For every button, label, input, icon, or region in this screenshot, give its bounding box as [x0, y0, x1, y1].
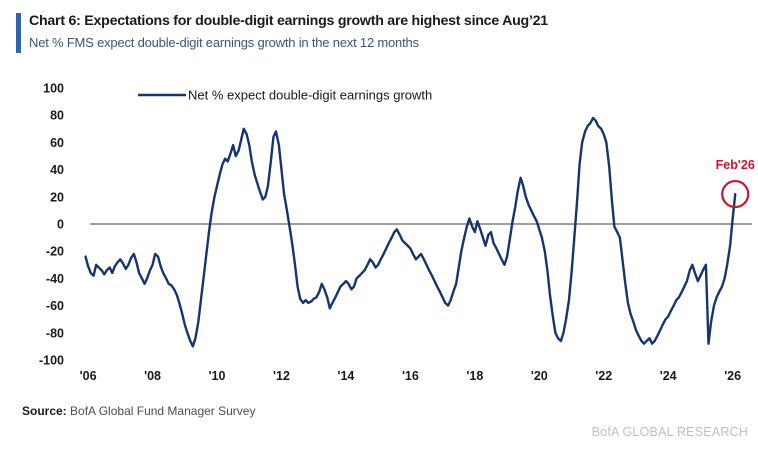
x-tick-label: '08: [144, 369, 161, 383]
y-tick-label: -80: [46, 326, 64, 340]
x-tick-label: '16: [402, 369, 419, 383]
x-tick-label: '12: [273, 369, 290, 383]
data-series-group: [86, 118, 736, 346]
source-line: Source: BofA Global Fund Manager Survey: [22, 404, 255, 418]
page-title: Chart 6: Expectations for double-digit e…: [29, 13, 548, 29]
line-chart-svg: 100806040200-20-40-60-80-100 '06'08'10'1…: [0, 62, 758, 392]
chart-header: Chart 6: Expectations for double-digit e…: [0, 0, 758, 62]
x-tick-label: '26: [724, 369, 741, 383]
feb26-annotation-label: Feb'26: [716, 158, 755, 172]
x-tick-label: '18: [466, 369, 483, 383]
source-label: Source:: [22, 404, 67, 418]
x-tick-label: '10: [209, 369, 226, 383]
y-tick-label: -20: [46, 245, 64, 259]
x-tick-label: '20: [531, 369, 548, 383]
y-tick-label: 80: [50, 109, 64, 123]
chart-footer: Source: BofA Global Fund Manager Survey …: [0, 392, 758, 452]
legend-label: Net % expect double-digit earnings growt…: [188, 88, 432, 103]
y-tick-label: 40: [50, 163, 64, 177]
y-tick-label: 100: [43, 82, 64, 96]
y-tick-label: -60: [46, 299, 64, 313]
y-tick-label: 0: [57, 218, 64, 232]
chart-page: Chart 6: Expectations for double-digit e…: [0, 0, 758, 452]
page-subtitle: Net % FMS expect double-digit earnings g…: [29, 35, 419, 50]
y-axis-tick-labels: 100806040200-20-40-60-80-100: [39, 82, 64, 368]
bofa-watermark: BofA GLOBAL RESEARCH: [592, 425, 748, 439]
source-text: BofA Global Fund Manager Survey: [70, 404, 255, 418]
y-tick-label: -40: [46, 272, 64, 286]
accent-bar: [16, 13, 21, 53]
x-tick-label: '22: [595, 369, 612, 383]
y-tick-label: -100: [39, 354, 64, 368]
x-tick-label: '14: [337, 369, 354, 383]
x-tick-label: '24: [660, 369, 677, 383]
series-line: [86, 118, 736, 346]
x-axis-tick-labels: '06'08'10'12'14'16'18'20'22'24'26: [80, 369, 741, 383]
y-tick-label: 20: [50, 190, 64, 204]
chart-plot-area: 100806040200-20-40-60-80-100 '06'08'10'1…: [0, 62, 758, 392]
chart-legend: Net % expect double-digit earnings growt…: [138, 88, 432, 103]
x-tick-label: '06: [80, 369, 97, 383]
y-tick-label: 60: [50, 136, 64, 150]
